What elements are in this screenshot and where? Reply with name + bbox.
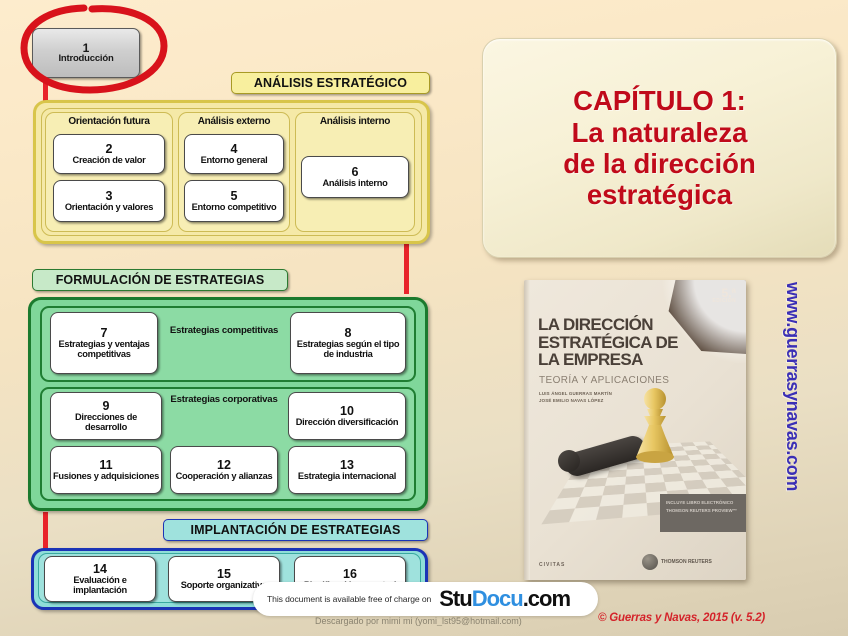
- studocu-logo-docu: Docu: [472, 586, 523, 611]
- chapter-number: 7: [101, 327, 108, 340]
- chapter-number: 5: [231, 190, 238, 203]
- chapter-number: 12: [217, 459, 231, 472]
- chapter-box-12[interactable]: 12 Cooperación y alianzas: [170, 446, 278, 494]
- chapter-box-7[interactable]: 7 Estrategias y ventajas competitivas: [50, 312, 158, 374]
- mid-label-text: Estrategias competitivas: [170, 325, 278, 336]
- title-line-4: estratégica: [587, 179, 732, 210]
- chapter-title: Estrategia internacional: [298, 472, 396, 482]
- book-publisher: CIVITAS: [539, 562, 565, 568]
- chapter-number: 6: [352, 166, 359, 179]
- column-label-orientacion-futura: Orientación futura: [45, 116, 173, 127]
- title-line-3: de la dirección: [563, 148, 756, 179]
- book-subtitle: TEORÍA Y APLICACIONES: [539, 375, 669, 386]
- chapter-box-2[interactable]: 2 Creación de valor: [53, 134, 165, 174]
- chapter-box-3[interactable]: 3 Orientación y valores: [53, 180, 165, 222]
- chapter-number: 3: [106, 190, 113, 203]
- studocu-note: This document is available free of charg…: [267, 594, 431, 604]
- studocu-logo-com: .com: [523, 586, 570, 611]
- gold-pawn-icon: [632, 386, 678, 472]
- downloader-watermark: Descargado por mimi mi (yomi_lst95@hotma…: [315, 616, 522, 626]
- chapter-number: 16: [343, 568, 357, 581]
- slide-root: 1 Introducción ANÁLISIS ESTRATÉGICO Orie…: [0, 0, 848, 636]
- chapter-box-5[interactable]: 5 Entorno competitivo: [184, 180, 284, 222]
- book-title: LA DIRECCIÓN ESTRATÉGICA DE LA EMPRESA: [538, 316, 698, 369]
- chapter-title-card: CAPÍTULO 1: La naturaleza de la direcció…: [482, 38, 837, 258]
- chapter-title: Estrategias según el tipo de industria: [293, 340, 403, 359]
- chapter-title: Dirección diversificación: [296, 418, 399, 428]
- chapter-title: Orientación y valores: [65, 203, 153, 213]
- chapter-number: 15: [217, 568, 231, 581]
- chapter-number: 2: [106, 143, 113, 156]
- copyright-notice: © Guerras y Navas, 2015 (v. 5.2): [598, 612, 765, 624]
- chapter-number: 14: [93, 563, 107, 576]
- column-label-analisis-externo: Análisis externo: [178, 116, 290, 127]
- studocu-logo[interactable]: StuDocu.com: [439, 586, 570, 612]
- book-cover-image: 5.ª EDICIÓN LA DIRECCIÓN ESTRATÉGICA DE …: [524, 280, 746, 580]
- strategy-map-diagram: 1 Introducción ANÁLISIS ESTRATÉGICO Orie…: [0, 0, 452, 636]
- chapter-number: 4: [231, 143, 238, 156]
- title-line-1: CAPÍTULO 1:: [573, 85, 746, 116]
- column-label-analisis-interno: Análisis interno: [295, 116, 415, 127]
- chapter-title: Soporte organizativo: [181, 581, 267, 591]
- studocu-banner[interactable]: This document is available free of charg…: [253, 582, 598, 616]
- banner-formulacion-estrategias: FORMULACIÓN DE ESTRATEGIAS: [32, 269, 288, 291]
- chapter-title: Estrategias y ventajas competitivas: [53, 340, 155, 359]
- chapter-title: Fusiones y adquisiciones: [53, 472, 159, 482]
- chapter-title: Creación de valor: [73, 156, 146, 166]
- chapter-box-14[interactable]: 14 Evaluación e implantación: [44, 556, 156, 602]
- website-url-vertical[interactable]: www.guerrasynavas.com: [773, 282, 803, 572]
- chapter-box-8[interactable]: 8 Estrategias según el tipo de industria: [290, 312, 406, 374]
- chapter-box-9[interactable]: 9 Direcciones de desarrollo: [50, 392, 162, 440]
- mid-label-estrategias-competitivas: Estrategias competitivas: [165, 325, 283, 336]
- book-edition-label: EDICIÓN: [712, 299, 736, 304]
- chapter-title: Cooperación y alianzas: [176, 472, 273, 482]
- fallen-black-pawn-head-icon: [558, 450, 580, 472]
- studocu-logo-stu: Stu: [439, 586, 471, 611]
- chapter-box-10[interactable]: 10 Dirección diversificación: [288, 392, 406, 440]
- banner-implantacion-estrategias: IMPLANTACIÓN DE ESTRATEGIAS: [163, 519, 428, 541]
- chapter-number: 9: [103, 400, 110, 413]
- chapter-title: Evaluación e implantación: [47, 576, 153, 595]
- chapter-box-11[interactable]: 11 Fusiones y adquisiciones: [50, 446, 162, 494]
- chapter-title: Análisis interno: [323, 179, 388, 189]
- chapter-title: Direcciones de desarrollo: [53, 413, 159, 432]
- banner-analisis-estrategico: ANÁLISIS ESTRATÉGICO: [231, 72, 430, 94]
- thomson-reuters-globe-icon: [642, 554, 658, 570]
- chapter-box-4[interactable]: 4 Entorno general: [184, 134, 284, 174]
- book-imprint-label: THOMSON REUTERS: [661, 559, 712, 565]
- book-edition: 5.ª EDICIÓN: [712, 287, 736, 304]
- chapter-number: 13: [340, 459, 354, 472]
- book-spine: [524, 280, 530, 580]
- book-imprint: THOMSON REUTERS: [642, 554, 712, 570]
- chapter-number: 10: [340, 405, 354, 418]
- title-line-2: La naturaleza: [572, 117, 748, 148]
- chapter-title: Entorno competitivo: [192, 203, 277, 213]
- chapter-box-1[interactable]: 1 Introducción: [32, 28, 140, 78]
- chapter-number: 11: [99, 459, 112, 472]
- chapter-title: Introducción: [58, 54, 113, 64]
- chapter-title: Entorno general: [201, 156, 268, 166]
- chapter-box-13[interactable]: 13 Estrategia internacional: [288, 446, 406, 494]
- mid-label-estrategias-corporativas: Estrategias corporativas: [165, 394, 283, 405]
- mid-label-text: Estrategias corporativas: [170, 394, 277, 405]
- chapter-number: 8: [345, 327, 352, 340]
- book-ebook-badge: INCLUYE LIBRO ELECTRÓNICO THOMSON REUTER…: [660, 494, 746, 532]
- book-authors: LUIS ÁNGEL GUERRAS MARTÍN JOSÉ EMILIO NA…: [539, 390, 612, 405]
- chapter-box-6[interactable]: 6 Análisis interno: [301, 156, 409, 198]
- connector-analysis-to-formulation: [404, 244, 409, 294]
